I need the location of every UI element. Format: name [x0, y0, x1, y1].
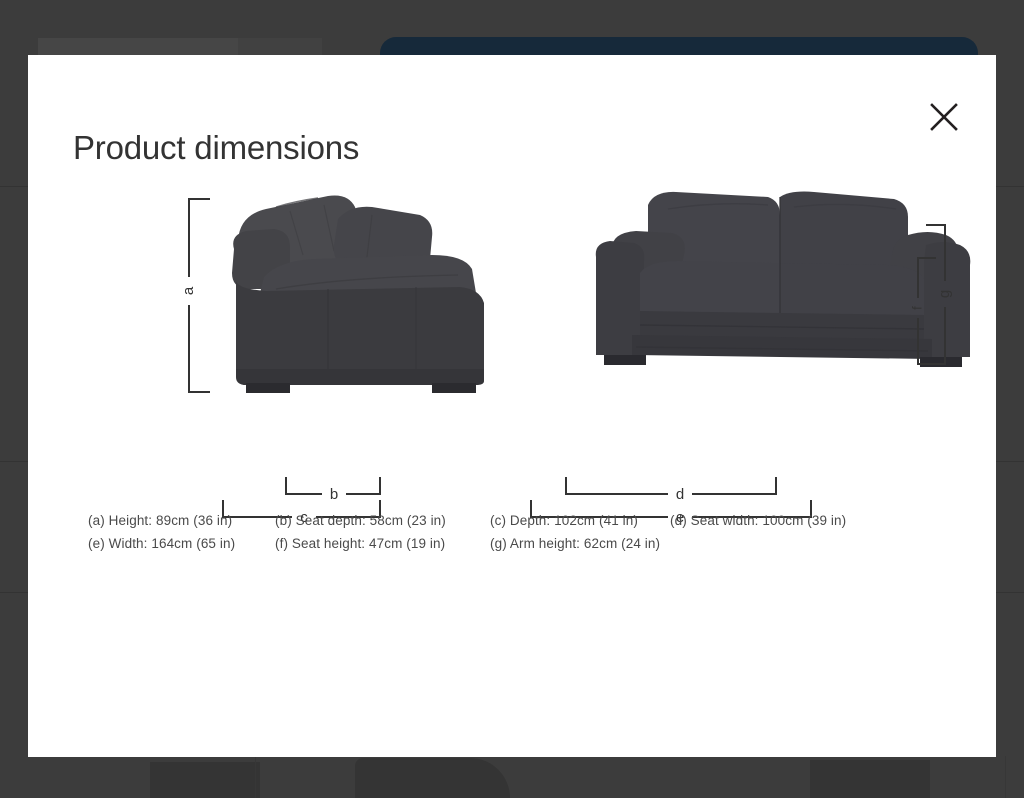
sofa-side-view-illustration [232, 195, 484, 393]
background-column-rule-right [1005, 756, 1006, 798]
close-button[interactable] [922, 95, 966, 139]
legend-item-e: (e) Width: 164cm (65 in) [88, 536, 275, 551]
legend-row: (a) Height: 89cm (36 in) (b) Seat depth:… [88, 513, 948, 528]
dimension-label-f: f [909, 306, 924, 310]
dimension-label-b: b [330, 486, 338, 503]
dimension-marker-a: a [180, 199, 210, 393]
dimension-label-g: g [936, 290, 953, 298]
dimension-legend: (a) Height: 89cm (36 in) (b) Seat depth:… [88, 513, 948, 559]
legend-item-a: (a) Height: 89cm (36 in) [88, 513, 275, 528]
dialog-header: Product dimensions [28, 55, 996, 185]
legend-row: (e) Width: 164cm (65 in) (f) Seat height… [88, 536, 948, 551]
background-thumbnail-two [355, 758, 510, 798]
close-icon [929, 102, 959, 132]
legend-item-b: (b) Seat depth: 58cm (23 in) [275, 513, 490, 528]
dimension-label-d: d [676, 486, 684, 503]
background-thumbnail-three [810, 760, 930, 798]
legend-item-c: (c) Depth: 102cm (41 in) [490, 513, 670, 528]
legend-item-d: (d) Seat width: 100cm (39 in) [670, 513, 846, 528]
page-title: Product dimensions [73, 129, 359, 167]
dimension-marker-b: b [285, 477, 381, 503]
dimension-marker-d: d [565, 477, 777, 503]
background-column-rule-left [255, 756, 256, 798]
background-thumbnail-one [150, 762, 260, 798]
legend-item-g: (g) Arm height: 62cm (24 in) [490, 536, 660, 551]
sofa-front-view-illustration [596, 192, 971, 367]
dimension-label-a: a [180, 286, 197, 295]
legend-item-f: (f) Seat height: 47cm (19 in) [275, 536, 490, 551]
product-dimensions-dialog: Product dimensions [28, 55, 996, 757]
